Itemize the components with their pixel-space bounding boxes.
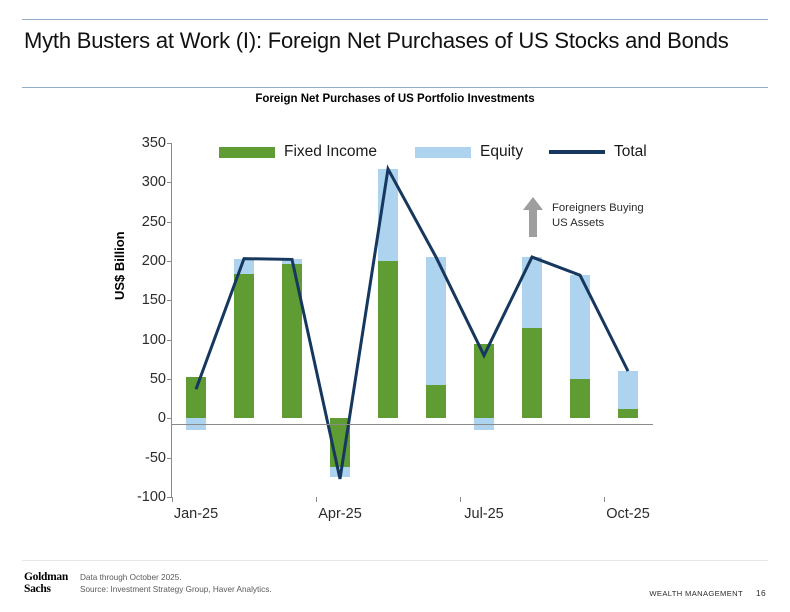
data-through-note: Data through October 2025. <box>80 572 272 584</box>
x-tick-mark <box>172 497 173 502</box>
goldman-sachs-logo: Goldman Sachs <box>24 572 68 595</box>
x-tick-mark <box>460 497 461 502</box>
footer-divider <box>22 560 768 561</box>
footer-notes: Data through October 2025. Source: Inves… <box>80 572 272 597</box>
logo-line-2: Sachs <box>24 584 68 596</box>
y-tick-label: -100 <box>120 489 166 505</box>
annotation-line-1: Foreigners Buying <box>552 201 644 216</box>
legend-label: Total <box>614 143 647 161</box>
y-tick-label: 200 <box>120 253 166 269</box>
legend-label: Fixed Income <box>284 143 377 161</box>
annotation-line-2: US Assets <box>552 216 644 231</box>
legend-item-equity: Equity <box>415 143 523 161</box>
legend-item-total: Total <box>549 143 647 161</box>
page-title: Myth Busters at Work (I): Foreign Net Pu… <box>24 28 764 54</box>
y-tick-label: 350 <box>120 135 166 151</box>
annotation-foreigners-buying: Foreigners Buying US Assets <box>523 196 644 237</box>
up-arrow-icon <box>523 197 543 237</box>
y-tick-label: 50 <box>120 371 166 387</box>
x-tick-label: Jul-25 <box>464 506 504 522</box>
y-tick-label: 150 <box>120 292 166 308</box>
y-tick-label: -50 <box>120 450 166 466</box>
legend-swatch-icon <box>219 147 275 158</box>
logo-line-1: Goldman <box>24 572 68 584</box>
y-tick-label: 250 <box>120 214 166 230</box>
header-divider-top <box>22 19 768 20</box>
zero-baseline <box>171 424 653 425</box>
y-tick-label: 100 <box>120 332 166 348</box>
annotation-text: Foreigners Buying US Assets <box>552 196 644 231</box>
header-divider-bottom <box>22 87 768 88</box>
x-tick-label: Apr-25 <box>318 506 362 522</box>
footer-right: WEALTH MANAGEMENT 16 <box>649 588 766 598</box>
division-label: WEALTH MANAGEMENT <box>649 589 743 598</box>
x-tick-label: Oct-25 <box>606 506 650 522</box>
chart-legend: Fixed IncomeEquityTotal <box>219 143 639 163</box>
y-tick-label: 0 <box>120 410 166 426</box>
slide: Myth Busters at Work (I): Foreign Net Pu… <box>0 0 790 612</box>
chart-title: Foreign Net Purchases of US Portfolio In… <box>0 93 790 105</box>
y-tick-label: 300 <box>120 174 166 190</box>
x-tick-mark <box>316 497 317 502</box>
page-number: 16 <box>756 588 766 598</box>
legend-label: Equity <box>480 143 523 161</box>
x-tick-label: Jan-25 <box>174 506 218 522</box>
x-tick-mark <box>604 497 605 502</box>
legend-swatch-icon <box>549 150 605 153</box>
legend-item-fixed-income: Fixed Income <box>219 143 377 161</box>
legend-swatch-icon <box>415 147 471 158</box>
source-note: Source: Investment Strategy Group, Haver… <box>80 584 272 596</box>
